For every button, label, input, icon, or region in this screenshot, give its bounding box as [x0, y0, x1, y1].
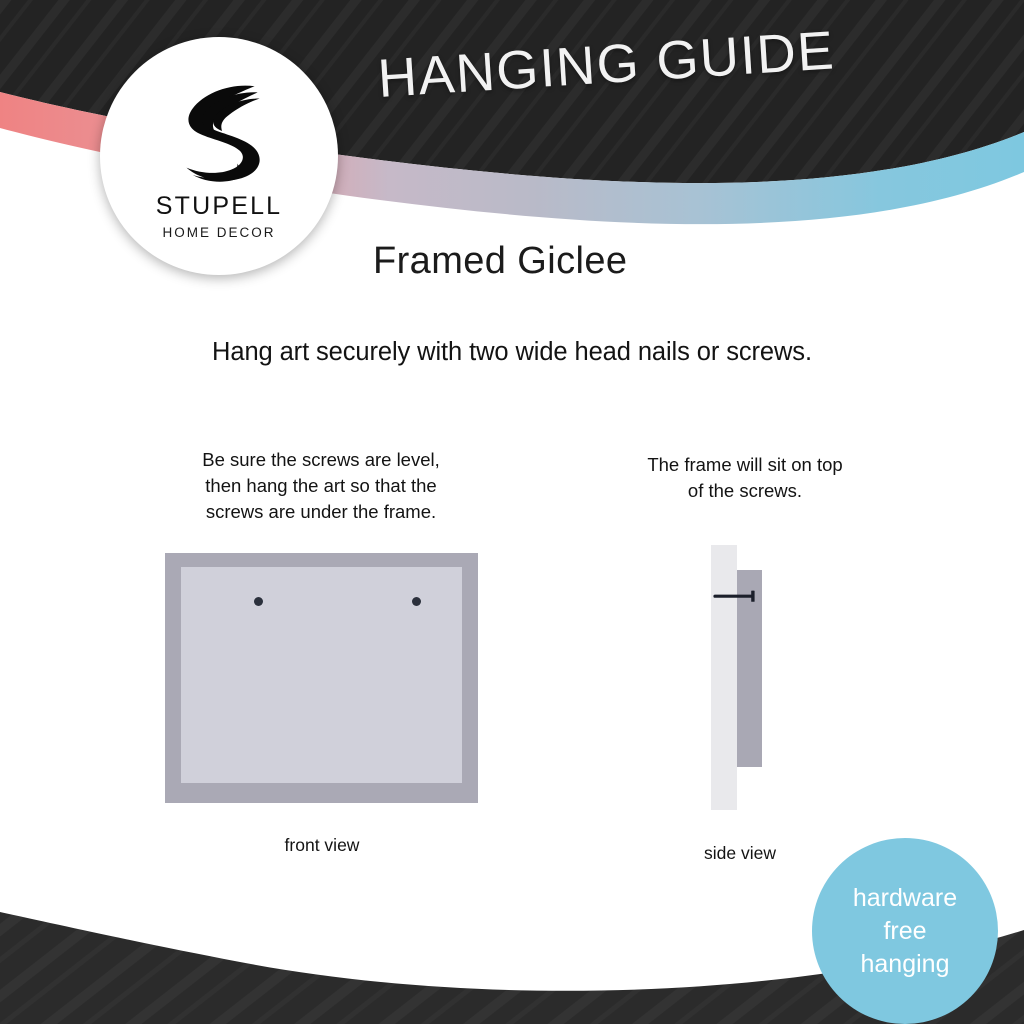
- product-name: Framed Giclee: [373, 240, 627, 283]
- front-view-caption-line-2: then hang the art so that the: [150, 473, 492, 499]
- front-view-label: front view: [190, 835, 454, 856]
- main-instruction-text: Hang art securely with two wide head nai…: [0, 338, 1024, 367]
- screw-dot-left-icon: [254, 597, 263, 606]
- wide-head-nail-icon: [713, 589, 761, 603]
- side-view-caption-line-1: The frame will sit on top: [600, 452, 890, 478]
- brand-logo-badge: STUPELL HOME DECOR: [100, 37, 338, 275]
- front-view-caption-line-1: Be sure the screws are level,: [150, 447, 492, 473]
- stupell-s-swoosh-logo-icon: [158, 70, 280, 192]
- brand-wordmark: STUPELL: [156, 194, 283, 219]
- front-view-caption-line-3: screws are under the frame.: [150, 499, 492, 525]
- page-title: HANGING GUIDE: [376, 19, 837, 110]
- picture-frame-mat: [181, 567, 462, 783]
- badge-line-1: hardware: [853, 882, 957, 915]
- side-view-caption-line-2: of the screws.: [600, 478, 890, 504]
- side-view-label: side view: [610, 843, 870, 864]
- screw-dot-right-icon: [412, 597, 421, 606]
- front-view-diagram: [165, 553, 478, 803]
- side-view-diagram: [705, 545, 775, 810]
- badge-line-3: hanging: [861, 948, 950, 981]
- side-view-caption: The frame will sit on top of the screws.: [600, 452, 890, 504]
- wall-bar: [711, 545, 737, 810]
- brand-subwordmark: HOME DECOR: [162, 226, 275, 240]
- badge-line-2: free: [883, 915, 926, 948]
- front-view-caption: Be sure the screws are level, then hang …: [150, 447, 492, 525]
- hanging-guide-infographic: STUPELL HOME DECOR HANGING GUIDE Framed …: [0, 0, 1024, 1024]
- hardware-free-hanging-badge: hardware free hanging: [812, 838, 998, 1024]
